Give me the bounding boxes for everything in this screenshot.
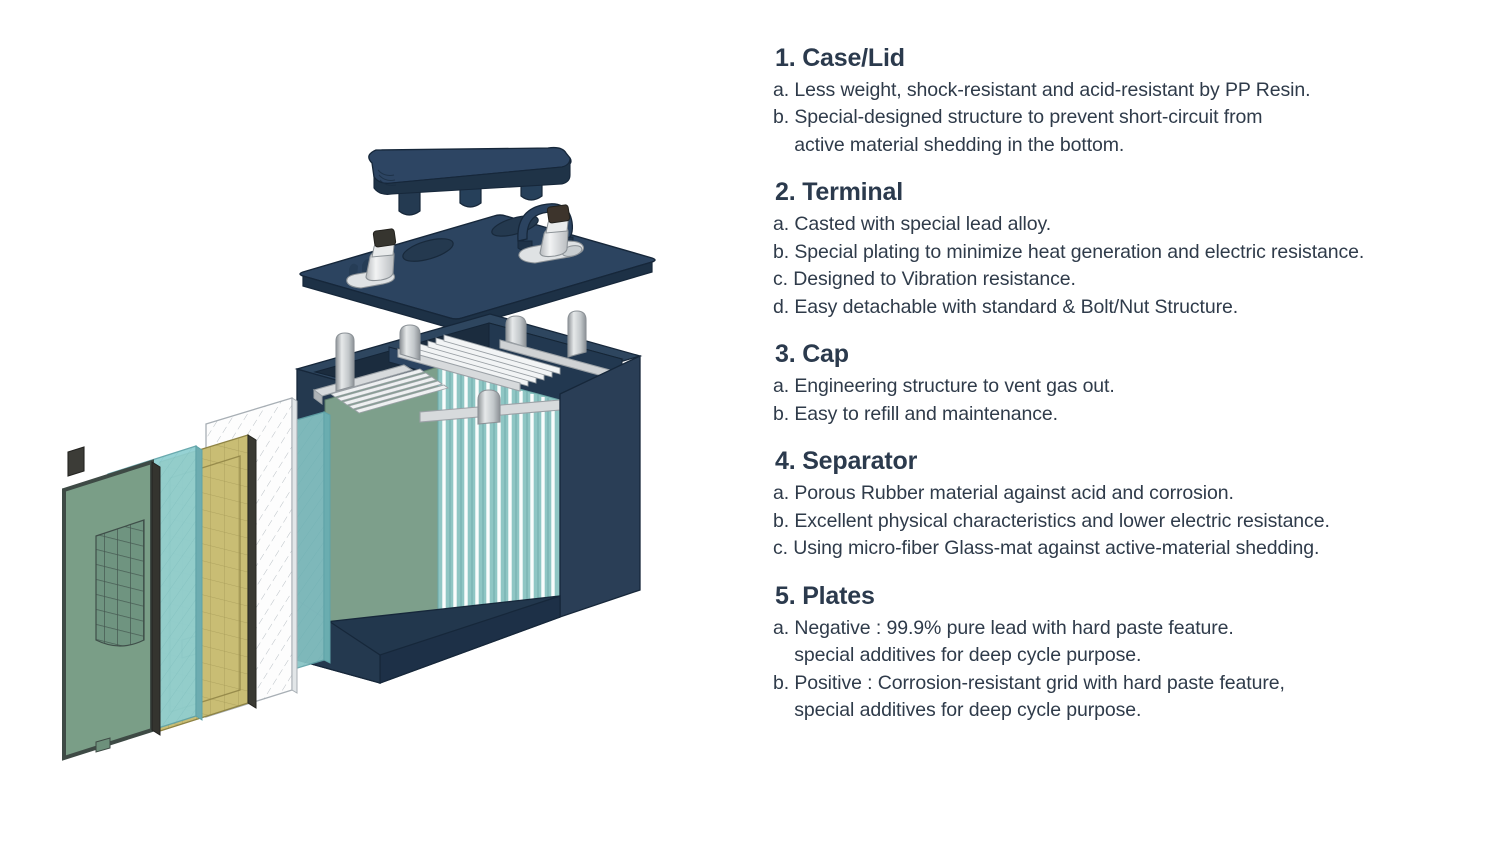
bullet-item: b. Special plating to minimize heat gene… [773, 239, 1482, 266]
battery-exploded-diagram [0, 0, 760, 852]
bullet-item: b. Special-designed structure to prevent… [773, 104, 1482, 131]
bullet-item: c. Designed to Vibration resistance. [773, 266, 1482, 293]
section-plates: 5. Plates a. Negative : 99.9% pure lead … [773, 582, 1482, 725]
page-root: 1. Case/Lid a. Less weight, shock-resist… [0, 0, 1500, 852]
bullet-item: a. Less weight, shock-resistant and acid… [773, 77, 1482, 104]
spec-panel: 1. Case/Lid a. Less weight, shock-resist… [760, 0, 1500, 852]
section-cap: 3. Cap a. Engineering structure to vent … [773, 340, 1482, 428]
case-right-wall [560, 356, 640, 617]
section-title: 2. Terminal [775, 178, 1482, 206]
bullet-item: special additives for deep cycle purpose… [773, 697, 1482, 724]
section-bullets: a. Porous Rubber material against acid a… [773, 480, 1482, 562]
section-title: 4. Separator [775, 447, 1482, 475]
section-bullets: a. Negative : 99.9% pure lead with hard … [773, 615, 1482, 725]
section-case-lid: 1. Case/Lid a. Less weight, shock-resist… [773, 44, 1482, 159]
bullet-item: b. Excellent physical characteristics an… [773, 508, 1482, 535]
section-separator: 4. Separator a. Porous Rubber material a… [773, 447, 1482, 562]
lead-post-front [478, 390, 500, 424]
battery-diagram-svg [0, 0, 760, 852]
section-title: 1. Case/Lid [775, 44, 1482, 72]
bullet-item: a. Negative : 99.9% pure lead with hard … [773, 615, 1482, 642]
bullet-item: a. Engineering structure to vent gas out… [773, 373, 1482, 400]
section-title: 3. Cap [775, 340, 1482, 368]
lead-post-middle [400, 325, 420, 360]
section-terminal: 2. Terminal a. Casted with special lead … [773, 178, 1482, 321]
bullet-item: a. Porous Rubber material against acid a… [773, 480, 1482, 507]
section-bullets: a. Casted with special lead alloy. b. Sp… [773, 211, 1482, 321]
terminal-cap-negative [373, 229, 396, 248]
section-title: 5. Plates [775, 582, 1482, 610]
bullet-item: a. Casted with special lead alloy. [773, 211, 1482, 238]
lead-post-far-right [568, 311, 586, 357]
bullet-item: b. Easy to refill and maintenance. [773, 401, 1482, 428]
plate-negative-grid-window [96, 520, 144, 646]
lid-assembly [300, 204, 655, 329]
bullet-item: d. Easy detachable with standard & Bolt/… [773, 294, 1482, 321]
plate-negative [64, 447, 160, 758]
section-bullets: a. Less weight, shock-resistant and acid… [773, 77, 1482, 159]
terminal-cap-positive [547, 205, 570, 224]
section-bullets: a. Engineering structure to vent gas out… [773, 373, 1482, 428]
lead-post-rear-left [336, 333, 354, 391]
bullet-item: active material shedding in the bottom. [773, 132, 1482, 159]
bullet-item: c. Using micro-fiber Glass-mat against a… [773, 535, 1482, 562]
bullet-item: special additives for deep cycle purpose… [773, 642, 1482, 669]
bullet-item: b. Positive : Corrosion-resistant grid w… [773, 670, 1482, 697]
